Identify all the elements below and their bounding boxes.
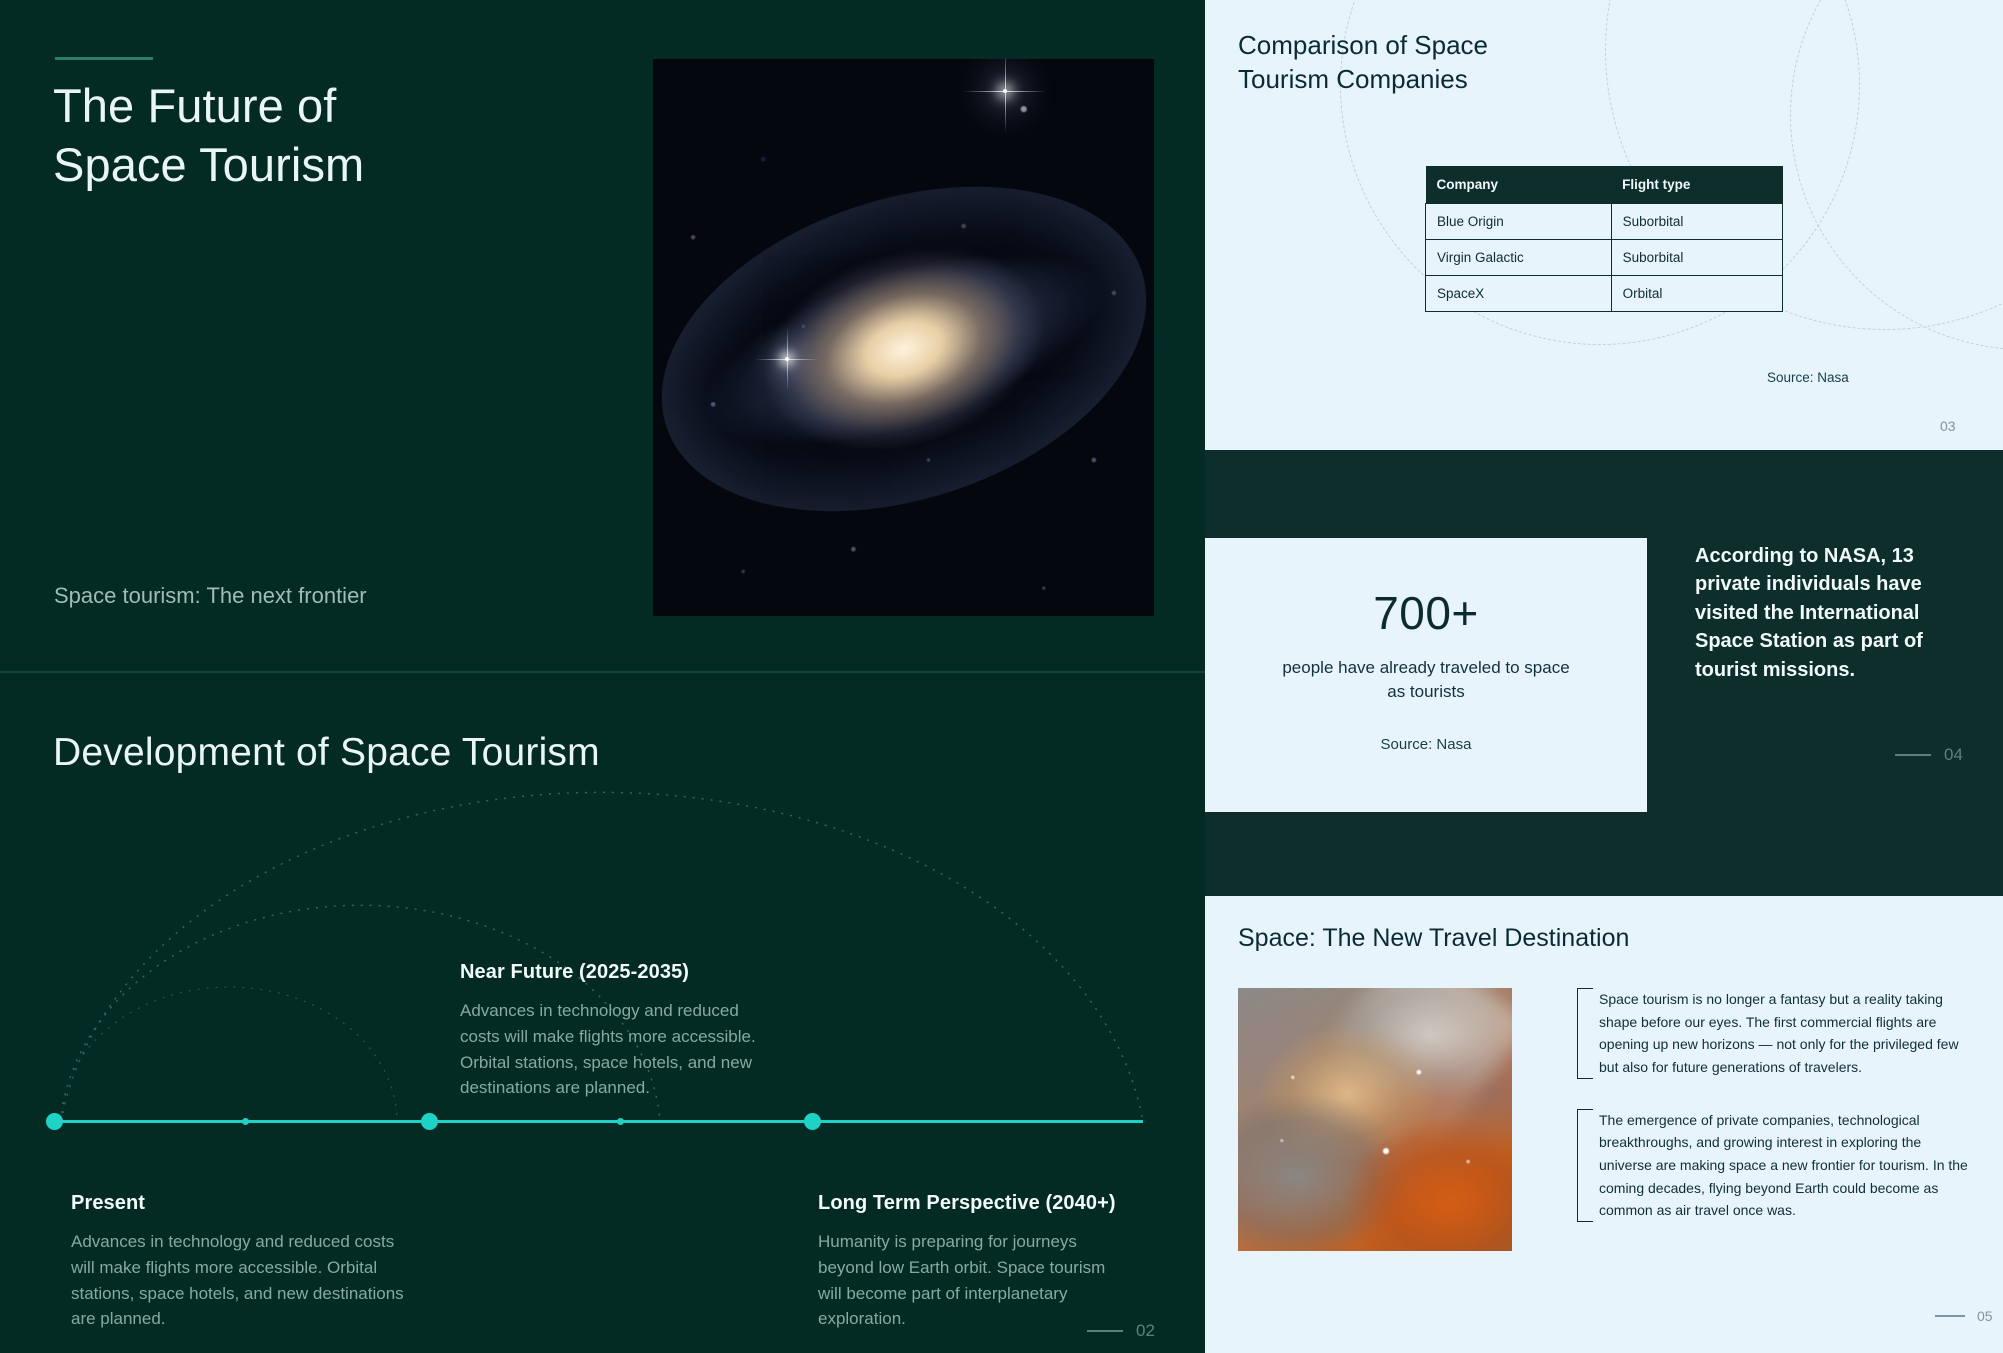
timeline-axis	[53, 1120, 1143, 1123]
secondary-star-icon	[785, 357, 789, 361]
page-number-dash	[1087, 1330, 1123, 1332]
cell-company: Virgin Galactic	[1426, 240, 1612, 276]
cell-flight-type: Suborbital	[1611, 204, 1782, 240]
table-row: Blue Origin Suborbital	[1426, 204, 1783, 240]
timeline-item-present: Present Advances in technology and reduc…	[71, 1192, 421, 1332]
timeline-dot-present[interactable]	[46, 1113, 63, 1130]
timeline-dot-near-future[interactable]	[421, 1113, 438, 1130]
statistic-statement: According to NASA, 13 private individual…	[1695, 542, 1965, 684]
timeline-item-body: Humanity is preparing for journeys beyon…	[818, 1229, 1133, 1332]
slide-deck: The Future of Space Tourism Space touris…	[0, 0, 2003, 1353]
comparison-heading-line2: Tourism Companies	[1238, 64, 1468, 94]
comparison-page-number: 03	[1940, 418, 1956, 434]
left-column: The Future of Space Tourism Space touris…	[0, 0, 1205, 1353]
destination-page-number: 05	[1935, 1308, 1993, 1324]
timeline-tick-1	[242, 1118, 249, 1125]
comparison-heading: Comparison of Space Tourism Companies	[1238, 28, 1658, 97]
timeline-item-long-term: Long Term Perspective (2040+) Humanity i…	[818, 1192, 1133, 1332]
page-number-value: 05	[1977, 1308, 1993, 1324]
bracket-icon	[1577, 988, 1593, 1079]
list-item: The emergence of private companies, tech…	[1577, 1109, 1972, 1222]
statistic-card: 700+ people have already traveled to spa…	[1205, 538, 1647, 812]
cell-company: Blue Origin	[1426, 204, 1612, 240]
page-number-dash	[1895, 754, 1931, 756]
timeline-item-title: Near Future (2025-2035)	[460, 961, 775, 984]
timeline-item-title: Long Term Perspective (2040+)	[818, 1192, 1133, 1215]
table-source-note: Source: Nasa	[1767, 370, 1849, 385]
slide-statistic-page: 700+ people have already traveled to spa…	[1205, 450, 2003, 896]
statistic-caption: people have already traveled to space as…	[1276, 656, 1576, 704]
right-column: Comparison of Space Tourism Companies Co…	[1205, 0, 2003, 1353]
nebula-image	[1238, 988, 1512, 1251]
nebula-stars	[1238, 988, 1512, 1251]
slide-title-page: The Future of Space Tourism Space touris…	[0, 0, 1205, 671]
slide-destination-page: Space: The New Travel Destination Space …	[1205, 896, 2003, 1353]
table-header-row: Company Flight type	[1426, 166, 1783, 204]
timeline-page-number: 02	[1087, 1321, 1155, 1341]
bright-star-icon	[1003, 89, 1007, 93]
page-number-value: 03	[1940, 418, 1956, 434]
galaxy-image	[653, 59, 1154, 616]
comparison-table: Company Flight type Blue Origin Suborbit…	[1425, 166, 1783, 312]
table-row: Virgin Galactic Suborbital	[1426, 240, 1783, 276]
statistic-source-note: Source: Nasa	[1381, 736, 1472, 753]
destination-heading: Space: The New Travel Destination	[1238, 924, 1629, 953]
column-header-company: Company	[1426, 166, 1612, 204]
title-rule-divider	[55, 57, 153, 60]
timeline-item-near-future: Near Future (2025-2035) Advances in tech…	[460, 961, 775, 1101]
list-item: Space tourism is no longer a fantasy but…	[1577, 988, 1972, 1079]
comparison-heading-line1: Comparison of Space	[1238, 30, 1488, 60]
page-title: The Future of Space Tourism	[53, 76, 673, 194]
statistic-page-number: 04	[1895, 745, 1963, 765]
timeline-item-body: Advances in technology and reduced costs…	[71, 1229, 421, 1332]
cell-company: SpaceX	[1426, 276, 1612, 312]
timeline-tick-2	[617, 1118, 624, 1125]
timeline-dot-long-term[interactable]	[804, 1113, 821, 1130]
page-title-line2: Space Tourism	[53, 138, 364, 191]
page-title-line1: The Future of	[53, 79, 336, 132]
timeline-item-title: Present	[71, 1192, 421, 1215]
page-number-value: 02	[1136, 1321, 1155, 1341]
cell-flight-type: Suborbital	[1611, 240, 1782, 276]
statistic-number: 700+	[1373, 586, 1479, 640]
slide-timeline-page: Development of Space Tourism Present Adv…	[0, 673, 1205, 1353]
page-subtitle: Space tourism: The next frontier	[54, 583, 367, 609]
bracket-icon	[1577, 1109, 1593, 1222]
destination-quote-list: Space tourism is no longer a fantasy but…	[1577, 988, 1972, 1252]
quote-text: The emergence of private companies, tech…	[1599, 1109, 1972, 1222]
page-number-value: 04	[1944, 745, 1963, 765]
table-row: SpaceX Orbital	[1426, 276, 1783, 312]
column-header-flight-type: Flight type	[1611, 166, 1782, 204]
cell-flight-type: Orbital	[1611, 276, 1782, 312]
page-number-dash	[1935, 1315, 1965, 1316]
timeline-item-body: Advances in technology and reduced costs…	[460, 998, 775, 1101]
quote-text: Space tourism is no longer a fantasy but…	[1599, 988, 1972, 1079]
slide-comparison-page: Comparison of Space Tourism Companies Co…	[1205, 0, 2003, 450]
